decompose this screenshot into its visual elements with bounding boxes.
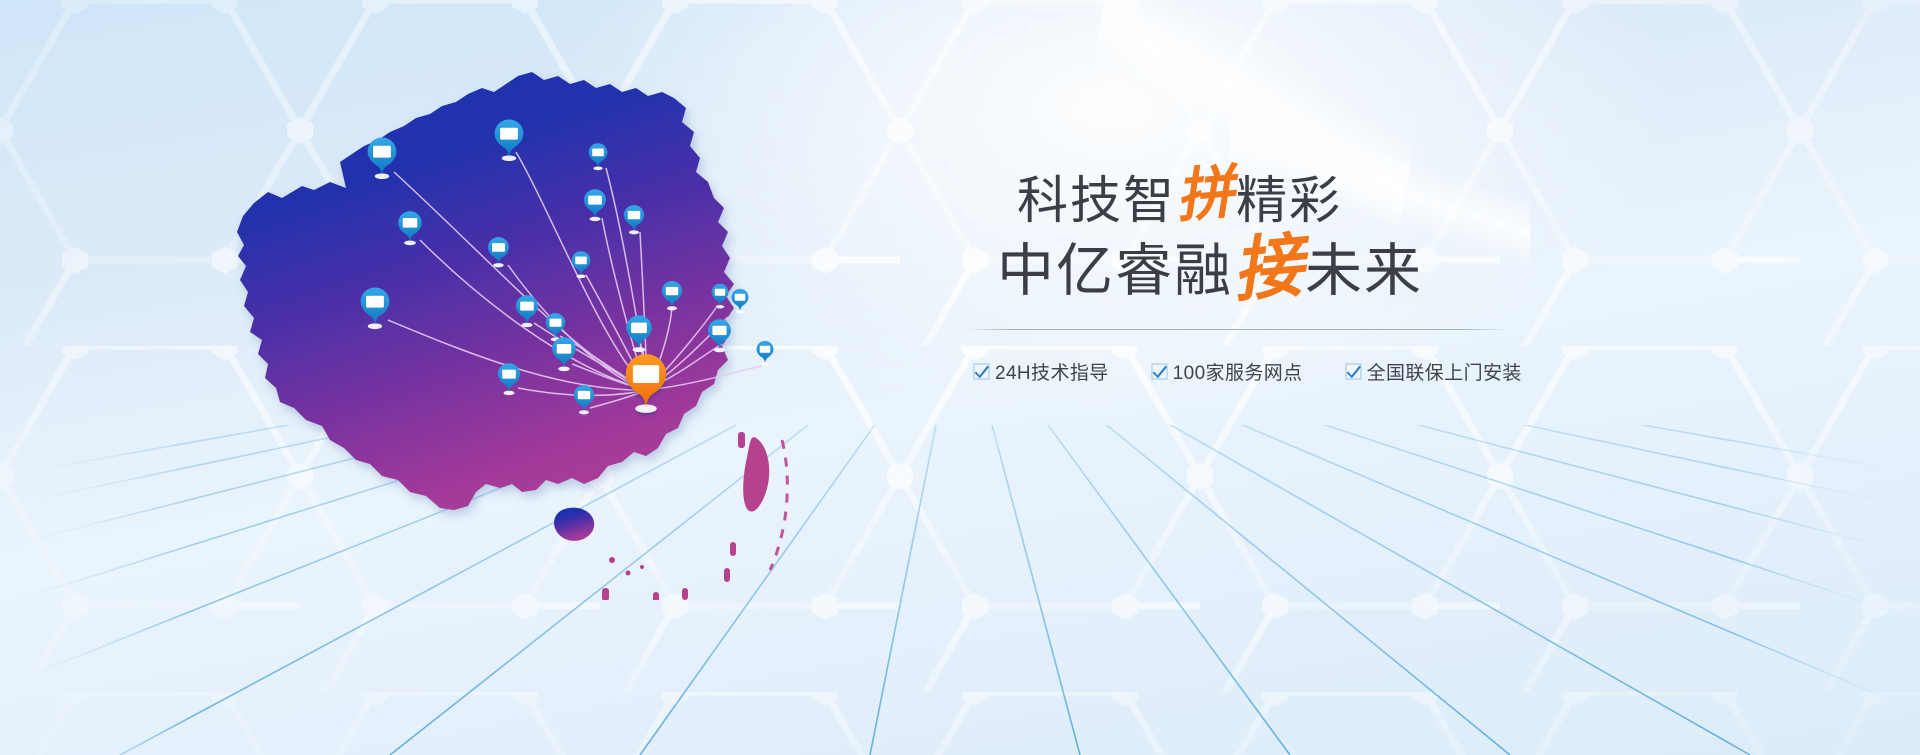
china-service-network-map xyxy=(210,40,910,600)
headline-line1-brush-char: 拼 xyxy=(1173,162,1238,229)
feature-list: 24H技术指导 100家服务网点 全国联保上门安装 xyxy=(973,358,1525,385)
headline-divider xyxy=(967,329,1507,330)
headline-line1-part1: 科技智 xyxy=(1017,174,1176,230)
feature-label: 24H技术指导 xyxy=(995,358,1109,385)
check-box-icon xyxy=(1345,363,1362,380)
feature-item-support: 24H技术指导 xyxy=(973,358,1109,385)
check-box-icon xyxy=(973,363,990,380)
headline-line1-part2: 精彩 xyxy=(1236,174,1342,230)
headline-line-1: 科技智拼精彩 xyxy=(965,168,1525,233)
feature-item-warranty: 全国联保上门安装 xyxy=(1345,358,1522,385)
hainan-island xyxy=(554,508,594,541)
maritime-boundary xyxy=(770,440,787,570)
headline-line2-part1: 中亿睿融 xyxy=(997,240,1233,303)
check-box-icon xyxy=(1151,363,1168,380)
feature-label: 100家服务网点 xyxy=(1173,358,1303,385)
feature-label: 全国联保上门安装 xyxy=(1367,358,1522,385)
headline-block: 科技智拼精彩 中亿睿融接未来 24H技术指导 100家服务网点 xyxy=(965,168,1525,385)
promo-banner: 科技智拼精彩 中亿睿融接未来 24H技术指导 100家服务网点 xyxy=(0,0,1920,755)
headline-line2-part2: 未来 xyxy=(1305,240,1423,303)
headline-line2-brush-char: 接 xyxy=(1230,232,1308,308)
feature-item-outlets: 100家服务网点 xyxy=(1151,358,1303,385)
headline-line-2: 中亿睿融接未来 xyxy=(965,233,1525,307)
taiwan-island xyxy=(743,437,769,511)
